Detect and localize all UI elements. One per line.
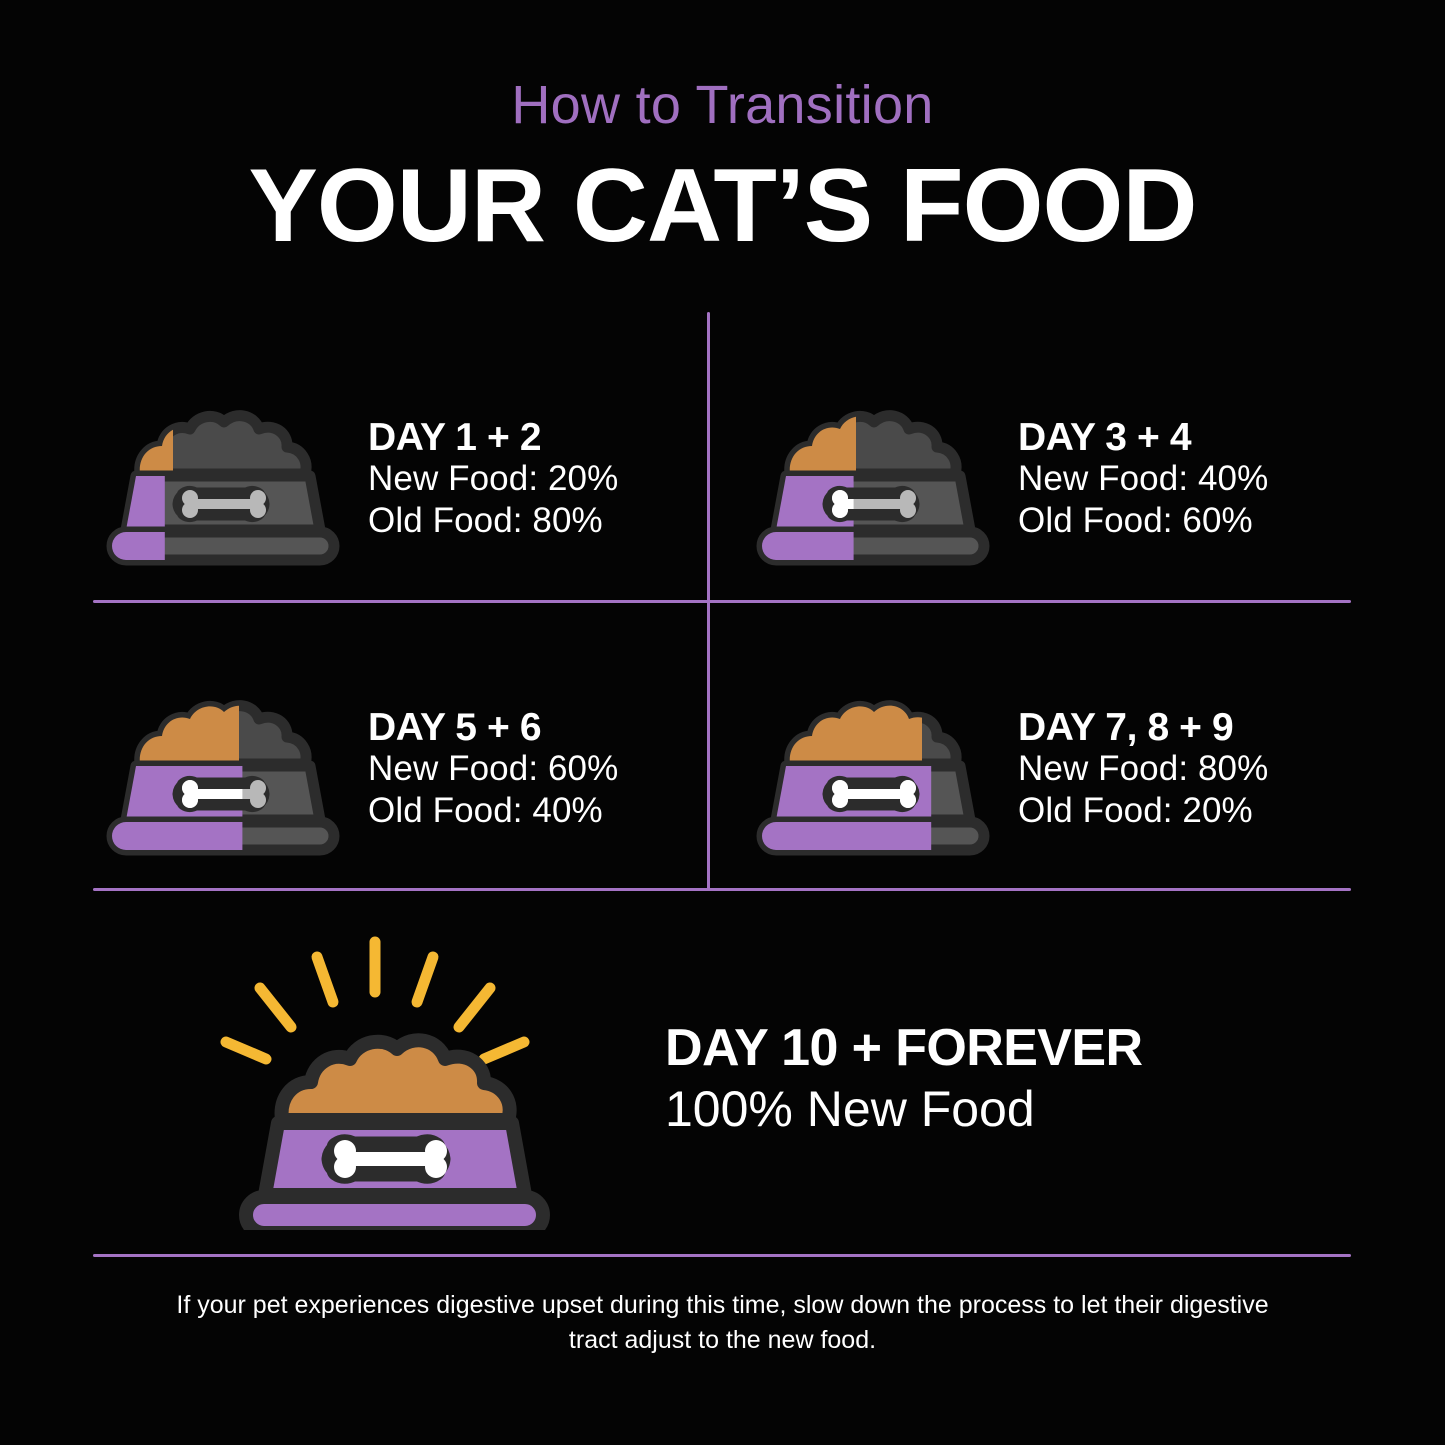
step-day-label: DAY 1 + 2 xyxy=(368,418,618,459)
divider-footer xyxy=(93,1254,1351,1257)
divider-horizontal-mid xyxy=(93,600,1351,603)
step-day-label: DAY 5 + 6 xyxy=(368,708,618,749)
bone-icon xyxy=(831,780,916,808)
footer-note: If your pet experiences digestive upset … xyxy=(0,1288,1445,1358)
bone-icon xyxy=(333,1140,447,1178)
page-title: YOUR CAT’S FOOD xyxy=(0,154,1445,258)
step-new-food: New Food: 60% xyxy=(368,748,618,790)
food-bowl-graphic xyxy=(98,678,348,863)
divider-vertical xyxy=(707,312,710,890)
food-bowl-graphic xyxy=(748,388,998,573)
bowl-icon-day-1-2 xyxy=(95,388,350,573)
final-day-label: DAY 10 + FOREVER xyxy=(665,1021,1142,1076)
step-text-day-5-6: DAY 5 + 6 New Food: 60% Old Food: 40% xyxy=(350,708,618,833)
step-new-food: New Food: 80% xyxy=(1018,748,1268,790)
step-day-label: DAY 7, 8 + 9 xyxy=(1018,708,1268,749)
food-bowl-graphic xyxy=(98,388,348,573)
step-text-day-1-2: DAY 1 + 2 New Food: 20% Old Food: 80% xyxy=(350,418,618,543)
bone-icon xyxy=(181,490,266,518)
bowl-icon-day-7-8-9 xyxy=(745,678,1000,863)
step-old-food: Old Food: 20% xyxy=(1018,790,1268,832)
step-text-day-3-4: DAY 3 + 4 New Food: 40% Old Food: 60% xyxy=(1000,418,1268,543)
bone-icon xyxy=(831,490,916,518)
step-card-day-5-6: DAY 5 + 6 New Food: 60% Old Food: 40% xyxy=(95,650,705,890)
bowl-icon-day-10-forever xyxy=(95,930,655,1230)
step-card-day-1-2: DAY 1 + 2 New Food: 20% Old Food: 80% xyxy=(95,360,705,600)
bowl-icon-day-5-6 xyxy=(95,678,350,863)
step-card-day-10-forever: DAY 10 + FOREVER 100% New Food xyxy=(95,920,1355,1240)
step-day-label: DAY 3 + 4 xyxy=(1018,418,1268,459)
step-new-food: New Food: 20% xyxy=(368,458,618,500)
step-old-food: Old Food: 80% xyxy=(368,500,618,542)
footer-note-text: If your pet experiences digestive upset … xyxy=(163,1288,1283,1358)
food-bowl-graphic-celebration xyxy=(190,930,560,1230)
step-card-day-7-8-9: DAY 7, 8 + 9 New Food: 80% Old Food: 20% xyxy=(745,650,1355,890)
final-step-text: DAY 10 + FOREVER 100% New Food xyxy=(655,1021,1142,1139)
step-old-food: Old Food: 60% xyxy=(1018,500,1268,542)
step-new-food: New Food: 40% xyxy=(1018,458,1268,500)
header-kicker: How to Transition xyxy=(0,78,1445,132)
final-subtitle: 100% New Food xyxy=(665,1080,1142,1139)
bowl-icon-day-3-4 xyxy=(745,388,1000,573)
step-old-food: Old Food: 40% xyxy=(368,790,618,832)
step-text-day-7-8-9: DAY 7, 8 + 9 New Food: 80% Old Food: 20% xyxy=(1000,708,1268,833)
bone-icon xyxy=(181,780,266,808)
food-bowl-graphic xyxy=(748,678,998,863)
step-card-day-3-4: DAY 3 + 4 New Food: 40% Old Food: 60% xyxy=(745,360,1355,600)
header: How to Transition YOUR CAT’S FOOD xyxy=(0,78,1445,258)
infographic-root: How to Transition YOUR CAT’S FOOD xyxy=(0,0,1445,1445)
